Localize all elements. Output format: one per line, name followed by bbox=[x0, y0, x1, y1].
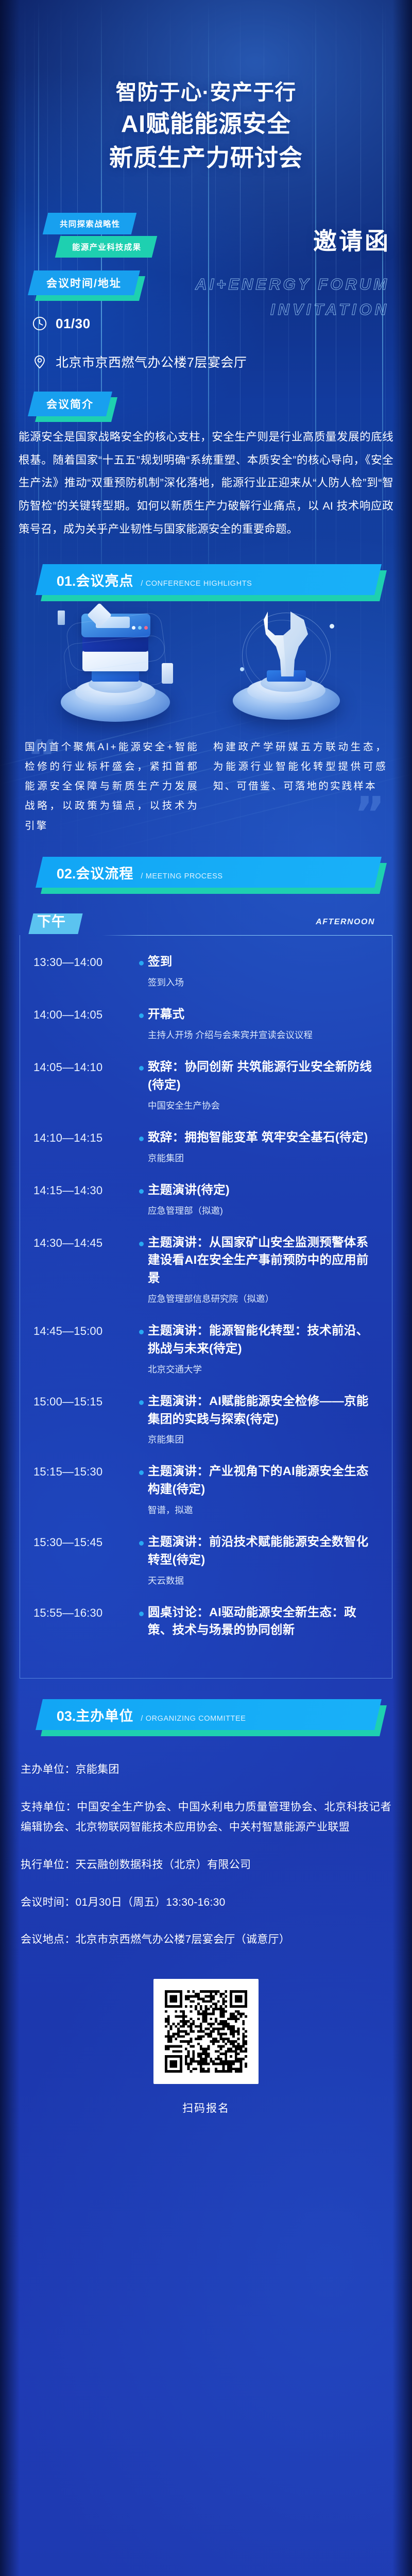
agenda-item: 14:00—14:05开幕式主持人开场 介绍与会来宾并宣读会议议程 bbox=[20, 1005, 392, 1042]
agenda-item-body: 致辞：拥抱智能变革 筑牢安全基石(待定)京能集团 bbox=[148, 1128, 377, 1165]
agenda-item-time: 13:30—14:00 bbox=[33, 953, 134, 990]
hero-section: 智防于心·安产于行 AI赋能能源安全 新质生产力研讨会 共同探索战略性 能源产业… bbox=[0, 0, 412, 175]
meeting-info-chip: 会议时间/地址 bbox=[31, 270, 137, 295]
agenda-item-title: 开幕式 bbox=[148, 1005, 375, 1023]
agenda-item: 14:15—14:30主题演讲(待定)应急管理部（拟邀) bbox=[20, 1181, 392, 1218]
hero-line-2: AI赋能能源安全 bbox=[21, 107, 391, 141]
agenda-list: 13:30—14:00签到签到入场14:00—14:05开幕式主持人开场 介绍与… bbox=[20, 935, 392, 1679]
agenda-item-body: 圆桌讨论：AI驱动能源安全新生态：政策、技术与场景的协同创新 bbox=[148, 1603, 377, 1639]
highlights-banner-subtitle: / CONFERENCE HIGHLIGHTS bbox=[141, 580, 252, 588]
agenda-item-title: 主题演讲：能源智能化转型：技术前沿、挑战与未来(待定) bbox=[148, 1321, 375, 1358]
agenda-item: 14:45—15:00主题演讲：能源智能化转型：技术前沿、挑战与未来(待定)北京… bbox=[20, 1321, 392, 1377]
committee-venue: 会议地点：北京市京西燃气办公楼7层宴会厅（诚意厅） bbox=[21, 1930, 391, 1950]
agenda-item-body: 开幕式主持人开场 介绍与会来宾并宣读会议议程 bbox=[148, 1005, 377, 1042]
agenda-period-cn: 下午 bbox=[37, 910, 66, 930]
registration-qr-section: 扫码报名 bbox=[0, 1979, 412, 2151]
agenda-item-body: 主题演讲：产业视角下的AI能源安全生态构建(待定)智谱，拟邀 bbox=[148, 1462, 377, 1517]
banner-body: 02. 会议流程 / MEETING PROCESS bbox=[36, 857, 382, 888]
tagline-strategic-label: 共同探索战略性 bbox=[60, 218, 121, 229]
agenda-item-org: 京能集团 bbox=[148, 1433, 375, 1447]
agenda-item-org: 应急管理部信息研究院（拟邀） bbox=[148, 1292, 375, 1306]
agenda-item-org: 智谱，拟邀 bbox=[148, 1503, 375, 1517]
highlights-columns: 国内首个聚焦AI+能源安全+智能检修的行业标杆盛会，紧扣首都能源安全保障与新质生… bbox=[0, 737, 412, 835]
intro-paragraph: 能源安全是国家战略安全的核心支柱，安全生产则是行业高质量发展的底线根基。随着国家… bbox=[19, 426, 393, 541]
agenda-period-en: AFTERNOON bbox=[316, 918, 375, 927]
section-banner-committee: 03. 主办单位 / ORGANIZING COMMITTEE bbox=[0, 1699, 412, 1737]
section-banner-highlights: 01. 会议亮点 / CONFERENCE HIGHLIGHTS bbox=[0, 564, 412, 602]
meeting-date: 01/30 bbox=[56, 316, 91, 332]
agenda-item-body: 致辞：协同创新 共筑能源行业安全新防线(待定)中国安全生产协会 bbox=[148, 1058, 377, 1113]
highlights-banner-title: 会议亮点 bbox=[76, 570, 134, 590]
agenda-item-body: 主题演讲：从国家矿山安全监测预警体系建设看AI在安全生产事前预防中的应用前景应急… bbox=[148, 1233, 377, 1306]
agenda-item-time: 14:10—14:15 bbox=[33, 1128, 134, 1165]
invitation-poster: 智防于心·安产于行 AI赋能能源安全 新质生产力研讨会 共同探索战略性 能源产业… bbox=[0, 0, 412, 2576]
chip-body: 会议时间/地址 bbox=[28, 270, 140, 295]
agenda-bullet-icon bbox=[134, 1233, 148, 1306]
agenda-item-title: 主题演讲：产业视角下的AI能源安全生态构建(待定) bbox=[148, 1462, 375, 1498]
agenda-item-title: 致辞：协同创新 共筑能源行业安全新防线(待定) bbox=[148, 1058, 375, 1094]
agenda-bullet-icon bbox=[134, 1321, 148, 1377]
agenda-period-header: 下午 AFTERNOON bbox=[28, 910, 412, 935]
agenda-item: 14:30—14:45主题演讲：从国家矿山安全监测预警体系建设看AI在安全生产事… bbox=[20, 1233, 392, 1306]
section-banner-process: 02. 会议流程 / MEETING PROCESS bbox=[0, 857, 412, 895]
agenda-item-org: 应急管理部（拟邀) bbox=[148, 1204, 375, 1218]
agenda-item-org: 主持人开场 介绍与会来宾并宣读会议议程 bbox=[148, 1028, 375, 1042]
agenda-bullet-icon bbox=[134, 1533, 148, 1588]
agenda-section: 下午 AFTERNOON 13:30—14:00签到签到入场14:00—14:0… bbox=[0, 910, 412, 1679]
intro-section: 会议简介 能源安全是国家战略安全的核心支柱，安全生产则是行业高质量发展的底线根基… bbox=[0, 392, 412, 541]
committee-host: 主办单位：京能集团 bbox=[21, 1760, 391, 1780]
intro-chip-label: 会议简介 bbox=[46, 396, 94, 412]
location-pin-icon bbox=[32, 354, 47, 369]
tagline-tech-results: 能源产业科技成果 bbox=[55, 236, 158, 258]
page-title: 智防于心·安产于行 AI赋能能源安全 新质生产力研讨会 bbox=[0, 77, 412, 175]
agenda-item-body: 签到签到入场 bbox=[148, 953, 377, 990]
process-banner-subtitle: / MEETING PROCESS bbox=[141, 872, 223, 880]
agenda-item-title: 主题演讲：前沿技术赋能能源安全数智化转型(待定) bbox=[148, 1533, 375, 1569]
agenda-item-title: 签到 bbox=[148, 953, 375, 971]
hero-en-line-2: INVITATION bbox=[195, 297, 389, 323]
highlights-banner-number: 01. bbox=[57, 573, 76, 589]
highlights-section: “ ” 国内首个聚焦AI+能源安全+智能检修的行业标杆盛会，紧扣首都能源安全保障… bbox=[0, 605, 412, 848]
committee-section: 主办单位：京能集团 支持单位：中国安全生产协会、中国水利电力质量管理协会、北京科… bbox=[21, 1760, 391, 1950]
agenda-item-time: 14:30—14:45 bbox=[33, 1233, 134, 1306]
agenda-item-time: 14:05—14:10 bbox=[33, 1058, 134, 1113]
agenda-bullet-icon bbox=[134, 1005, 148, 1042]
qr-code-canvas[interactable] bbox=[165, 1990, 247, 2073]
banner-body: 01. 会议亮点 / CONFERENCE HIGHLIGHTS bbox=[36, 564, 382, 595]
quote-open-icon: “ bbox=[27, 734, 58, 782]
agenda-item: 14:10—14:15致辞：拥抱智能变革 筑牢安全基石(待定)京能集团 bbox=[20, 1128, 392, 1165]
committee-banner-subtitle: / ORGANIZING COMMITTEE bbox=[141, 1715, 246, 1723]
committee-banner-title: 主办单位 bbox=[76, 1705, 134, 1725]
agenda-item: 15:00—15:15主题演讲：AI赋能能源安全检修——京能集团的实践与探索(待… bbox=[20, 1392, 392, 1447]
committee-support: 支持单位：中国安全生产协会、中国水利电力质量管理协会、北京科技记者编辑协会、北京… bbox=[21, 1798, 391, 1838]
hero-en-line-1: AI+ENERGY FORUM bbox=[195, 272, 389, 297]
meeting-info-chip-label: 会议时间/地址 bbox=[46, 275, 122, 291]
tagline-strategic: 共同探索战略性 bbox=[43, 213, 136, 234]
chip-body: 会议简介 bbox=[28, 392, 112, 416]
agenda-item-time: 15:30—15:45 bbox=[33, 1533, 134, 1588]
agenda-item-time: 15:00—15:15 bbox=[33, 1392, 134, 1447]
agenda-bullet-icon bbox=[134, 1181, 148, 1218]
agenda-item-title: 主题演讲：从国家矿山安全监测预警体系建设看AI在安全生产事前预防中的应用前景 bbox=[148, 1233, 375, 1287]
highlights-illustrations bbox=[0, 605, 412, 729]
agenda-item-body: 主题演讲(待定)应急管理部（拟邀) bbox=[148, 1181, 377, 1218]
agenda-item-org: 京能集团 bbox=[148, 1151, 375, 1165]
process-banner-number: 02. bbox=[57, 866, 76, 882]
meeting-address: 北京市京西燃气办公楼7层宴会厅 bbox=[56, 352, 247, 371]
agenda-item-body: 主题演讲：前沿技术赋能能源安全数智化转型(待定)天云数据 bbox=[148, 1533, 377, 1588]
agenda-bullet-icon bbox=[134, 1462, 148, 1517]
agenda-item: 14:05—14:10致辞：协同创新 共筑能源行业安全新防线(待定)中国安全生产… bbox=[20, 1058, 392, 1113]
meeting-address-row: 北京市京西燃气办公楼7层宴会厅 bbox=[32, 352, 412, 371]
hero-taglines: 共同探索战略性 能源产业科技成果 bbox=[40, 213, 195, 258]
qr-code-icon[interactable] bbox=[153, 1979, 259, 2084]
hero-line-3: 新质生产力研讨会 bbox=[21, 141, 391, 175]
agenda-item: 15:15—15:30主题演讲：产业视角下的AI能源安全生态构建(待定)智谱，拟… bbox=[20, 1462, 392, 1517]
clock-icon bbox=[32, 316, 47, 331]
hero-english-outline: AI+ENERGY FORUM INVITATION bbox=[195, 272, 389, 323]
hero-invitation-block: 邀请函 bbox=[313, 223, 390, 257]
quote-close-icon: ” bbox=[354, 791, 385, 838]
committee-banner-number: 03. bbox=[57, 1708, 76, 1724]
agenda-item-org: 北京交通大学 bbox=[148, 1363, 375, 1377]
meeting-info-list: 01/30 北京市京西燃气办公楼7层宴会厅 bbox=[32, 316, 412, 371]
agenda-item-org: 签到入场 bbox=[148, 976, 375, 990]
agenda-item-body: 主题演讲：AI赋能能源安全检修——京能集团的实践与探索(待定)京能集团 bbox=[148, 1392, 377, 1447]
committee-executor: 执行单位：天云融创数据科技（北京）有限公司 bbox=[21, 1855, 391, 1875]
agenda-item-title: 圆桌讨论：AI驱动能源安全新生态：政策、技术与场景的协同创新 bbox=[148, 1603, 375, 1639]
agenda-item-title: 主题演讲(待定) bbox=[148, 1181, 375, 1199]
agenda-item-time: 14:45—15:00 bbox=[33, 1321, 134, 1377]
agenda-bullet-icon bbox=[134, 953, 148, 990]
process-banner-title: 会议流程 bbox=[76, 862, 134, 883]
agenda-bullet-icon bbox=[134, 1603, 148, 1639]
agenda-item-time: 15:55—16:30 bbox=[33, 1603, 134, 1639]
tagline-tech-results-label: 能源产业科技成果 bbox=[72, 241, 141, 252]
agenda-bullet-icon bbox=[134, 1392, 148, 1447]
agenda-item: 15:55—16:30圆桌讨论：AI驱动能源安全新生态：政策、技术与场景的协同创… bbox=[20, 1603, 392, 1639]
committee-time: 会议时间：01月30日（周五）13:30-16:30 bbox=[21, 1893, 391, 1913]
agenda-item-org: 中国安全生产协会 bbox=[148, 1099, 375, 1113]
hero-line-1: 智防于心·安产于行 bbox=[21, 77, 391, 107]
agenda-item-time: 15:15—15:30 bbox=[33, 1462, 134, 1517]
agenda-item-body: 主题演讲：能源智能化转型：技术前沿、挑战与未来(待定)北京交通大学 bbox=[148, 1321, 377, 1377]
agenda-item: 15:30—15:45主题演讲：前沿技术赋能能源安全数智化转型(待定)天云数据 bbox=[20, 1533, 392, 1588]
agenda-bullet-icon bbox=[134, 1058, 148, 1113]
agenda-item-title: 致辞：拥抱智能变革 筑牢安全基石(待定) bbox=[148, 1128, 375, 1146]
agenda-bullet-icon bbox=[134, 1128, 148, 1165]
qr-label: 扫码报名 bbox=[0, 2100, 412, 2115]
banner-body: 03. 主办单位 / ORGANIZING COMMITTEE bbox=[36, 1699, 382, 1730]
invitation-title: 邀请函 bbox=[313, 223, 390, 257]
agenda-item: 13:30—14:00签到签到入场 bbox=[20, 953, 392, 990]
intro-chip: 会议简介 bbox=[31, 392, 109, 416]
agenda-item-org: 天云数据 bbox=[148, 1574, 375, 1588]
agenda-item-time: 14:15—14:30 bbox=[33, 1181, 134, 1218]
agenda-item-title: 主题演讲：AI赋能能源安全检修——京能集团的实践与探索(待定) bbox=[148, 1392, 375, 1428]
agenda-item-time: 14:00—14:05 bbox=[33, 1005, 134, 1042]
